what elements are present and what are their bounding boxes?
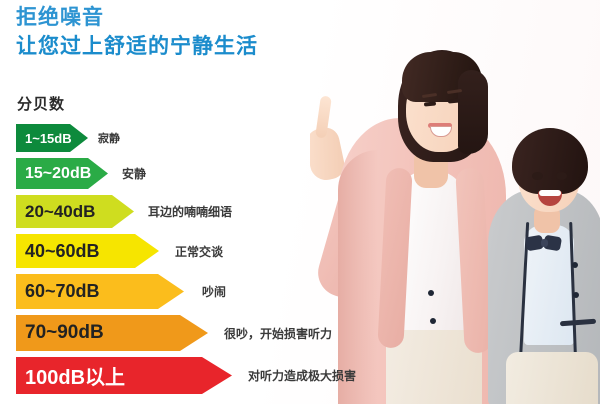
decibel-row: 40~60dB正常交谈	[0, 234, 380, 268]
decibel-row: 1~15dB寂静	[0, 124, 380, 152]
decibel-bar: 15~20dB	[16, 158, 108, 189]
decibel-row: 70~90dB很吵，开始损害听力	[0, 315, 380, 351]
chart-title: 分贝数	[17, 93, 65, 114]
boy-bowtie-knot	[541, 239, 548, 247]
boy-teeth	[539, 190, 561, 196]
decibel-range-label: 20~40dB	[16, 202, 95, 222]
decibel-range-label: 1~15dB	[16, 131, 72, 146]
decibel-range-label: 70~90dB	[16, 322, 104, 344]
decibel-description: 吵闹	[202, 283, 226, 300]
decibel-row: 20~40dB耳边的喃喃细语	[0, 195, 380, 228]
decibel-description: 耳边的喃喃细语	[148, 203, 232, 220]
boy-eye-left	[532, 172, 543, 180]
decibel-description: 安静	[122, 165, 146, 182]
decibel-description: 对听力造成极大损害	[248, 367, 356, 384]
mother-button-2	[430, 318, 436, 324]
decibel-description: 正常交谈	[175, 243, 223, 260]
decibel-row: 100dB以上对听力造成极大损害	[0, 357, 380, 394]
decibel-bar: 40~60dB	[16, 234, 159, 268]
decibel-bar: 100dB以上	[16, 357, 232, 394]
decibel-row: 15~20dB安静	[0, 158, 380, 189]
boy-button-1	[572, 262, 578, 268]
decibel-bar: 1~15dB	[16, 124, 88, 152]
decibel-range-label: 60~70dB	[16, 281, 100, 302]
decibel-scale-chart: 1~15dB寂静15~20dB安静20~40dB耳边的喃喃细语40~60dB正常…	[0, 124, 380, 400]
mother-button-1	[428, 290, 434, 296]
boy-pants	[506, 352, 598, 404]
boy-eye-right	[556, 172, 567, 180]
decibel-range-label: 15~20dB	[16, 165, 91, 183]
decibel-bar: 20~40dB	[16, 195, 134, 228]
mother-hair-side	[458, 70, 488, 154]
decibel-bar: 60~70dB	[16, 274, 184, 309]
noise-level-infographic: 拒绝噪音 让您过上舒适的宁静生活 分贝数 1~15dB寂静15~20dB安静20…	[0, 0, 600, 404]
decibel-description: 寂静	[98, 130, 120, 146]
boy-button-2	[573, 292, 579, 298]
boy-hair	[512, 128, 588, 194]
decibel-range-label: 100dB以上	[16, 361, 125, 390]
headline-line-1: 拒绝噪音	[16, 4, 258, 32]
decibel-range-label: 40~60dB	[16, 241, 100, 262]
decibel-row: 60~70dB吵闹	[0, 274, 380, 309]
headline: 拒绝噪音 让您过上舒适的宁静生活	[16, 4, 258, 62]
headline-line-2: 让您过上舒适的宁静生活	[16, 32, 258, 62]
decibel-description: 很吵，开始损害听力	[224, 325, 332, 342]
decibel-bar: 70~90dB	[16, 315, 208, 351]
